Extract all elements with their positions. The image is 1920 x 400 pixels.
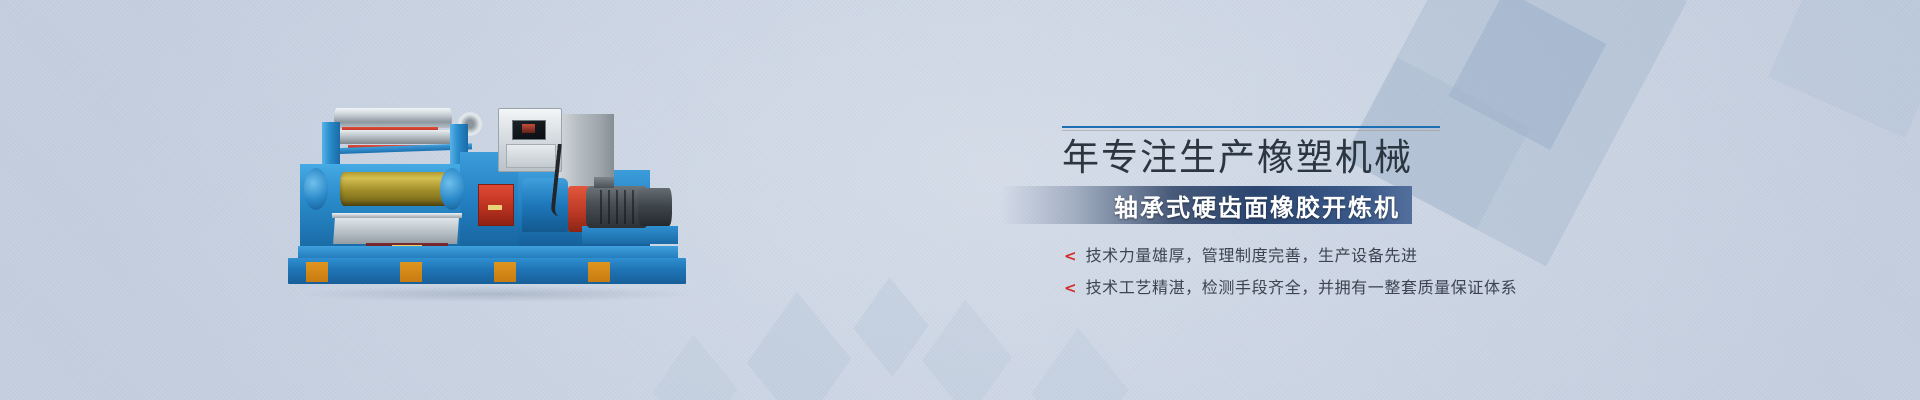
chevron-left-icon: < [1064, 281, 1077, 296]
feature-item: < 技术工艺精湛，检测手段齐全，并拥有一整套质量保证体系 [1064, 278, 1584, 297]
machine-foot-2 [400, 262, 422, 282]
machine-tray [333, 218, 459, 244]
machine-bearing-right [440, 168, 464, 210]
decorative-diamond-3 [922, 299, 1012, 400]
product-image-rubber-mixing-mill [282, 100, 702, 290]
machine-panel-display-readout [522, 124, 535, 133]
machine-motor-fin-2 [608, 190, 610, 224]
decorative-diamond-2 [853, 277, 928, 377]
decorative-shape-1 [1343, 0, 1687, 266]
headline-rule [1062, 126, 1440, 128]
decorative-diamond-4 [652, 335, 737, 400]
machine-top-roller [334, 108, 452, 128]
decorative-diamond-1 [747, 292, 852, 400]
machine-motor-fan-cover [638, 188, 672, 226]
machine-motor-fin-4 [624, 190, 626, 224]
machine-motor-junction-box [594, 177, 614, 188]
machine-motor-fin-1 [600, 190, 602, 224]
machine-foot-1 [306, 262, 328, 282]
banner-headline: 年专注生产橡塑机械 [1062, 136, 1462, 180]
feature-item-label: 技术力量雄厚，管理制度完善，生产设备先进 [1086, 246, 1418, 265]
machine-motor-fin-5 [632, 190, 634, 224]
machine-red-box-decal [488, 205, 502, 210]
product-name-bar: 轴承式硬齿面橡胶开炼机 [1000, 186, 1412, 224]
feature-item-label: 技术工艺精湛，检测手段齐全，并拥有一整套质量保证体系 [1086, 278, 1518, 297]
machine-second-roller [330, 130, 456, 144]
decorative-shape-2 [1449, 0, 1607, 150]
machine-main-roller [340, 172, 450, 206]
headline-rule-shadow [1062, 130, 1440, 131]
machine-motor-fin-3 [616, 190, 618, 224]
machine-base [288, 258, 686, 284]
chevron-left-icon: < [1064, 249, 1077, 264]
feature-item: < 技术力量雄厚，管理制度完善，生产设备先进 [1064, 246, 1584, 265]
machine-bearing-left [304, 168, 328, 210]
machine-motor-base [582, 226, 678, 244]
decorative-shape-4 [1768, 0, 1920, 138]
decorative-diamond-5 [1031, 327, 1128, 400]
machine-foot-3 [494, 262, 516, 282]
feature-list: < 技术力量雄厚，管理制度完善，生产设备先进 < 技术工艺精湛，检测手段齐全，并… [1064, 246, 1584, 310]
promo-banner: 年专注生产橡塑机械 轴承式硬齿面橡胶开炼机 < 技术力量雄厚，管理制度完善，生产… [0, 0, 1920, 400]
machine-panel-button-area [506, 144, 556, 168]
product-name-text: 轴承式硬齿面橡胶开炼机 [1114, 188, 1400, 223]
machine-foot-4 [588, 262, 610, 282]
